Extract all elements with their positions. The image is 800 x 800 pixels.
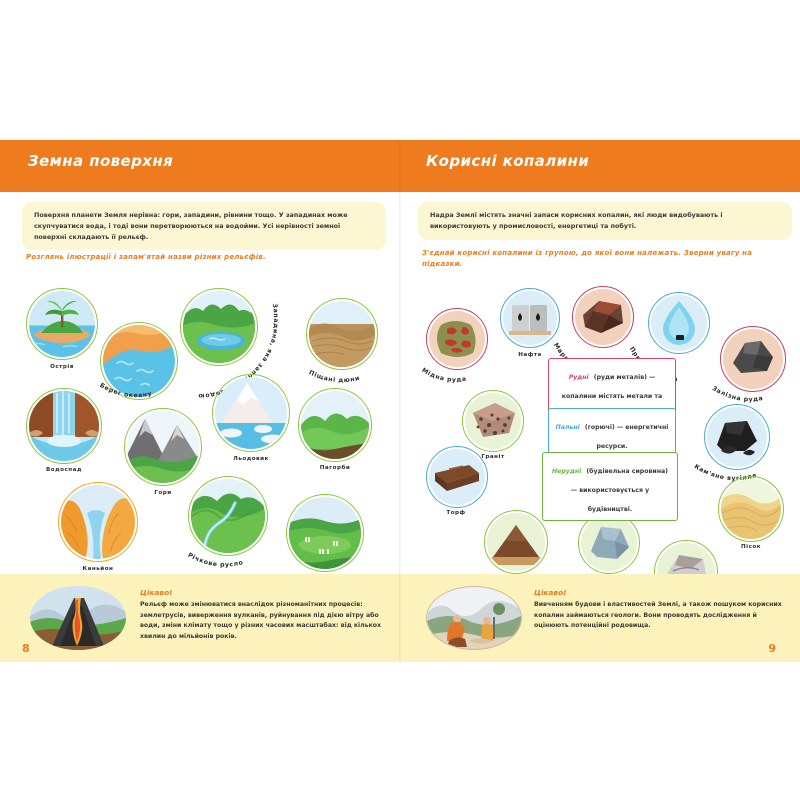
- copper-ore-icon: [429, 311, 485, 367]
- badge-label: Пагорби: [298, 465, 372, 471]
- left-fact-text: Цікаво! Рельєф може змінюватися внаслідо…: [140, 588, 386, 643]
- right-intro-callout: Надра Землі містять значні запаси корисн…: [418, 202, 792, 240]
- svg-text:Піщані дюни: Піщані дюни: [308, 369, 361, 384]
- right-task-instruction: З'єднай корисні копалини із групою, до я…: [422, 248, 777, 270]
- right-page-header: Корисні копалини: [400, 140, 800, 192]
- left-fact-illustration: [30, 586, 126, 650]
- hills-icon: [301, 391, 369, 459]
- peat-icon: [429, 449, 485, 505]
- glacier-icon: [215, 377, 287, 449]
- badge-label: Гори: [126, 490, 200, 496]
- water-filled-basin-icon: [183, 291, 255, 363]
- badge-label: Острів: [26, 364, 98, 370]
- right-page: Корисні копалини Надра Землі містять зна…: [400, 140, 800, 662]
- coal-icon: [707, 407, 767, 467]
- right-fact-illustration: [426, 586, 522, 650]
- clay-icon: [487, 513, 545, 571]
- legend-title: Пальні: [556, 424, 580, 431]
- fact-title: Цікаво!: [534, 588, 784, 597]
- left-task-instruction: Розглянь ілюстрації і запам'ятай назви р…: [26, 252, 376, 263]
- arc-text: Піщані дюни: [308, 369, 361, 384]
- waterfall-icon: [29, 391, 99, 461]
- fact-body: Рельєф може змінюватися внаслідок різном…: [140, 600, 386, 643]
- limestone-icon: [581, 515, 637, 571]
- sand-dunes-icon: [309, 301, 375, 367]
- left-intro-callout: Поверхня планети Земля нерівна: гори, за…: [22, 202, 386, 250]
- badge-label: Пісок: [716, 544, 786, 550]
- right-page-title: Корисні копалини: [426, 152, 589, 170]
- right-fact-text: Цікаво! Вивченням будови і властивостей …: [534, 588, 784, 632]
- right-page-number: 9: [768, 642, 776, 655]
- left-page-number: 8: [22, 642, 30, 655]
- left-page-title: Земна поверхня: [28, 152, 173, 170]
- left-page-header: Земна поверхня: [0, 140, 400, 192]
- mountains-icon: [127, 411, 199, 483]
- legend-title: Рудні: [569, 374, 589, 381]
- legend-body: (будівельна сировина) — використовується…: [571, 468, 668, 513]
- iron-ore-icon: [723, 329, 783, 389]
- canyon-icon: [61, 485, 135, 559]
- legend-title: Нерудні: [552, 468, 581, 475]
- sand-icon: [721, 479, 781, 539]
- island-icon: [29, 291, 95, 357]
- fact-title: Цікаво!: [140, 588, 386, 597]
- textbook-spread: Земна поверхня Поверхня планети Земля не…: [0, 140, 800, 662]
- riverbed-icon: [191, 479, 265, 553]
- legend-fuels[interactable]: Пальні (горючі) — енергетичні ресурси.: [548, 408, 676, 458]
- right-fact-band: Цікаво! Вивченням будови і властивостей …: [400, 574, 800, 662]
- natural-gas-icon: [651, 295, 707, 351]
- legend-nonmetallic[interactable]: Нерудні (будівельна сировина) — використ…: [542, 452, 678, 521]
- plateau-icon: [289, 497, 361, 569]
- badge-label: Каньйон: [56, 566, 140, 572]
- page-gutter: [399, 140, 401, 662]
- granite-icon: [465, 393, 521, 449]
- oil-barrels-icon: [503, 291, 557, 345]
- badge-label: Торф: [424, 510, 488, 516]
- badge-label: Водоспад: [24, 467, 104, 473]
- geologists-icon: [427, 587, 522, 650]
- left-fact-band: Цікаво! Рельєф може змінюватися внаслідо…: [0, 574, 400, 662]
- ocean-shore-icon: [103, 325, 175, 397]
- volcano-icon: [30, 586, 126, 650]
- fact-body: Вивченням будови і властивостей Землі, а…: [534, 600, 784, 632]
- left-page: Земна поверхня Поверхня планети Земля не…: [0, 140, 400, 662]
- badge-label: Льодовик: [212, 456, 290, 462]
- legend-body: (горючі) — енергетичні ресурси.: [585, 424, 669, 450]
- manganese-ore-icon: [575, 289, 631, 345]
